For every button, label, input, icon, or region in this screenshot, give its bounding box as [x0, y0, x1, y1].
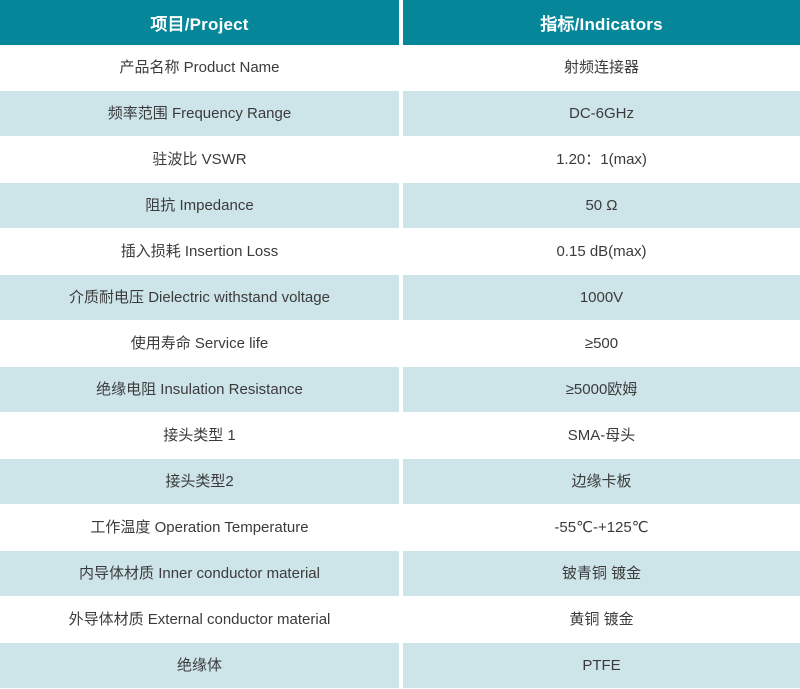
- cell-indicators: 铍青铜 镀金: [403, 551, 800, 597]
- cell-indicators: 射频连接器: [403, 45, 800, 91]
- cell-project: 接头类型2: [0, 459, 399, 505]
- cell-indicators: 边缘卡板: [403, 459, 800, 505]
- table-row: 绝缘体PTFE: [0, 643, 800, 689]
- header-row: 项目/Project 指标/Indicators: [0, 0, 800, 45]
- cell-indicators: SMA-母头: [403, 413, 800, 459]
- table-row: 使用寿命 Service life≥500: [0, 321, 800, 367]
- cell-project: 使用寿命 Service life: [0, 321, 399, 367]
- table-header: 项目/Project 指标/Indicators: [0, 0, 800, 45]
- cell-indicators: 50 Ω: [403, 183, 800, 229]
- cell-project: 接头类型 1: [0, 413, 399, 459]
- cell-project: 驻波比 VSWR: [0, 137, 399, 183]
- cell-indicators: 0.15 dB(max): [403, 229, 800, 275]
- table-row: 产品名称 Product Name射频连接器: [0, 45, 800, 91]
- cell-project: 外导体材质 External conductor material: [0, 597, 399, 643]
- table-row: 内导体材质 Inner conductor material铍青铜 镀金: [0, 551, 800, 597]
- specification-table: 项目/Project 指标/Indicators 产品名称 Product Na…: [0, 0, 800, 689]
- cell-indicators: 1.20：1(max): [403, 137, 800, 183]
- column-header-indicators: 指标/Indicators: [403, 0, 800, 45]
- table-row: 驻波比 VSWR1.20：1(max): [0, 137, 800, 183]
- cell-project: 绝缘电阻 Insulation Resistance: [0, 367, 399, 413]
- cell-indicators: -55℃-+125℃: [403, 505, 800, 551]
- cell-indicators: ≥500: [403, 321, 800, 367]
- table-row: 接头类型2边缘卡板: [0, 459, 800, 505]
- table-row: 绝缘电阻 Insulation Resistance≥5000欧姆: [0, 367, 800, 413]
- cell-project: 工作温度 Operation Temperature: [0, 505, 399, 551]
- table-row: 工作温度 Operation Temperature-55℃-+125℃: [0, 505, 800, 551]
- table-row: 阻抗 Impedance50 Ω: [0, 183, 800, 229]
- cell-project: 介质耐电压 Dielectric withstand voltage: [0, 275, 399, 321]
- cell-project: 插入损耗 Insertion Loss: [0, 229, 399, 275]
- cell-indicators: ≥5000欧姆: [403, 367, 800, 413]
- table-row: 介质耐电压 Dielectric withstand voltage1000V: [0, 275, 800, 321]
- cell-indicators: 黄铜 镀金: [403, 597, 800, 643]
- cell-indicators: DC-6GHz: [403, 91, 800, 137]
- cell-project: 产品名称 Product Name: [0, 45, 399, 91]
- cell-project: 阻抗 Impedance: [0, 183, 399, 229]
- table-row: 频率范围 Frequency RangeDC-6GHz: [0, 91, 800, 137]
- cell-project: 频率范围 Frequency Range: [0, 91, 399, 137]
- cell-indicators: 1000V: [403, 275, 800, 321]
- cell-indicators: PTFE: [403, 643, 800, 689]
- table-body: 产品名称 Product Name射频连接器频率范围 Frequency Ran…: [0, 45, 800, 689]
- table-row: 外导体材质 External conductor material黄铜 镀金: [0, 597, 800, 643]
- cell-project: 绝缘体: [0, 643, 399, 689]
- table-row: 接头类型 1SMA-母头: [0, 413, 800, 459]
- cell-project: 内导体材质 Inner conductor material: [0, 551, 399, 597]
- table-row: 插入损耗 Insertion Loss0.15 dB(max): [0, 229, 800, 275]
- column-header-project: 项目/Project: [0, 0, 399, 45]
